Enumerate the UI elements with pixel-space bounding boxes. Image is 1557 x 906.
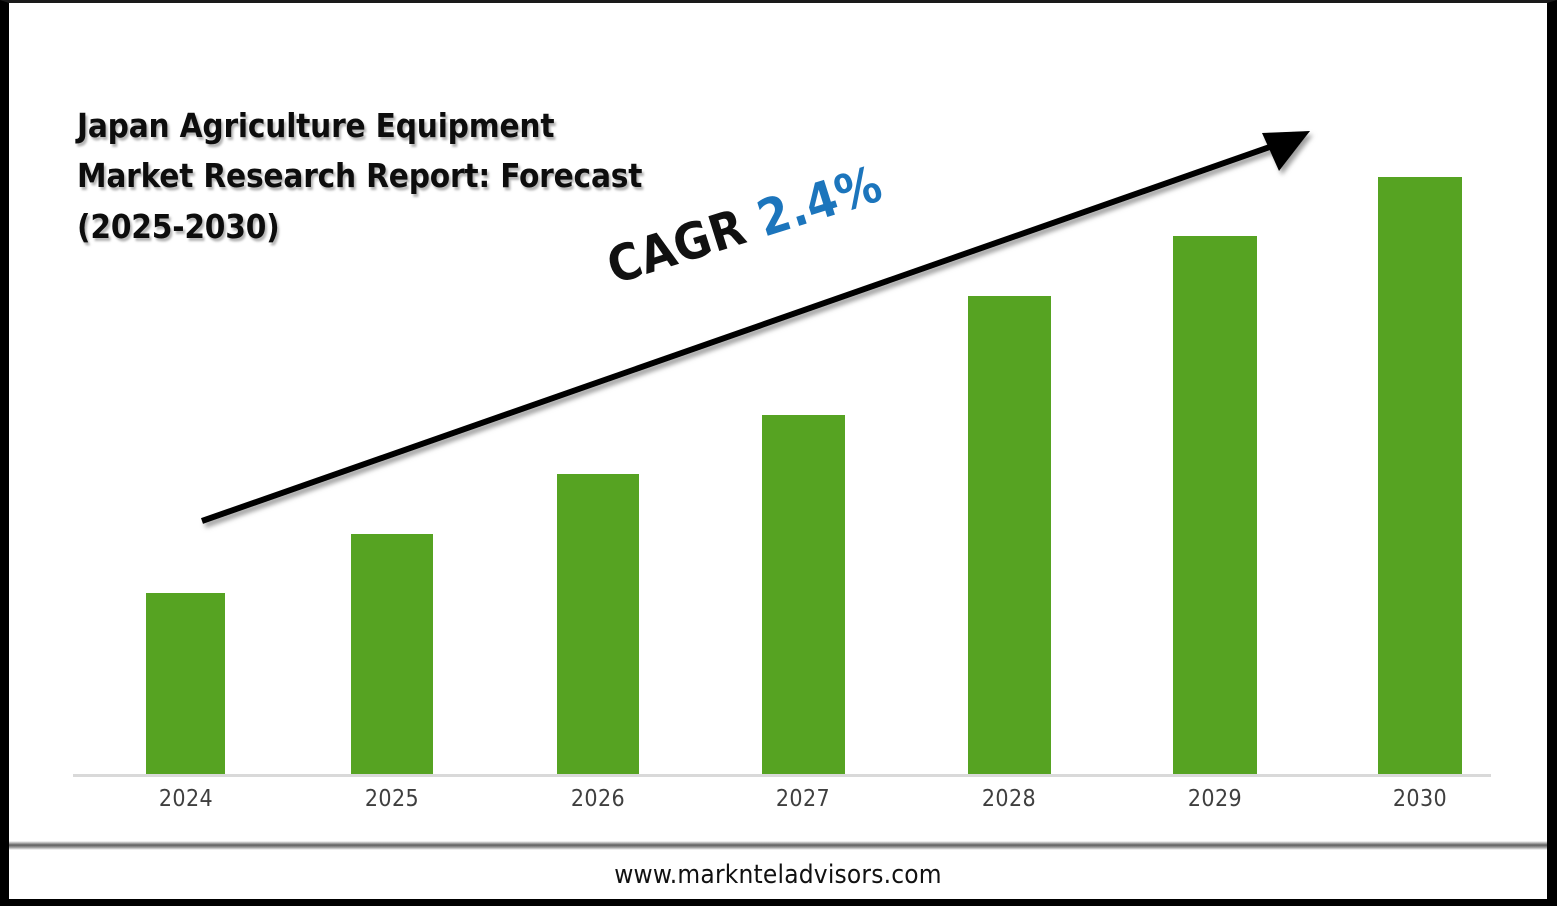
bar-2025[interactable] (351, 534, 433, 774)
x-tick-label-2025: 2025 (342, 786, 442, 812)
x-tick-label-2030: 2030 (1370, 786, 1470, 812)
plot-area: 2024 2025 2026 2027 2028 2029 2030 (9, 3, 1547, 841)
bar-2026[interactable] (557, 474, 639, 774)
bar-2030[interactable] (1378, 177, 1462, 774)
x-tick-label-2028: 2028 (959, 786, 1059, 812)
cagr-value-label: 2.4% (751, 155, 889, 248)
x-tick-label-2026: 2026 (548, 786, 648, 812)
x-tick-label-2029: 2029 (1165, 786, 1265, 812)
bar-2027[interactable] (762, 415, 845, 774)
x-axis-line (73, 774, 1491, 777)
x-tick-label-2027: 2027 (753, 786, 853, 812)
cagr-annotation: CAGR 2.4% (600, 155, 889, 296)
footer-divider (9, 841, 1547, 850)
bar-2024[interactable] (146, 593, 225, 774)
chart-card: Japan Agriculture Equipment Market Resea… (9, 3, 1547, 841)
x-tick-label-2024: 2024 (136, 786, 236, 812)
footer: www.marknteladvisors.com (9, 850, 1547, 899)
cagr-prefix-label: CAGR (600, 198, 752, 296)
footer-website-url[interactable]: www.marknteladvisors.com (614, 860, 942, 890)
bar-2028[interactable] (968, 296, 1051, 774)
chart-frame: Japan Agriculture Equipment Market Resea… (0, 0, 1557, 906)
bar-2029[interactable] (1173, 236, 1257, 774)
